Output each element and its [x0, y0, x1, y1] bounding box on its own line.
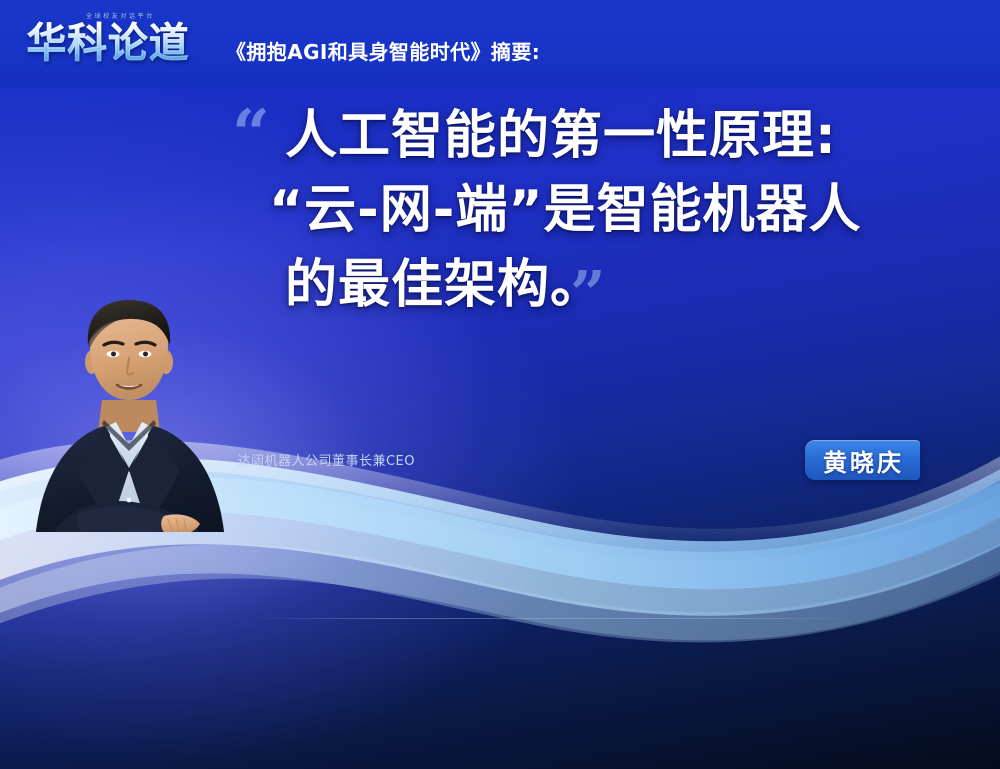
speaker-name: 黄晓庆 — [823, 443, 904, 478]
footer-divider — [252, 618, 856, 619]
footer-section: 入群请咨询工作人员: 微信号 srh15029033920 (苏同学) 微信号 … — [0, 628, 1000, 769]
speaker-name-badge: 黄晓庆 — [805, 440, 920, 480]
page-title: 《拥抱AGI和具身智能时代》摘要: — [226, 36, 540, 65]
logo-wordmark: 华科论道 — [27, 21, 190, 65]
brand-logo: 全球校友对话平台 华科论道 — [24, 10, 214, 76]
quote-line-1: 人工智能的第一性原理: — [285, 102, 837, 170]
speaker-portrait — [14, 300, 244, 565]
close-quote-mark: ” — [570, 264, 606, 324]
open-quote-mark: “ — [232, 104, 270, 164]
quote-line-3: 的最佳架构。 — [285, 251, 603, 319]
speaker-title: 达闼机器人公司董事长兼CEO — [237, 450, 415, 469]
poster-canvas: 全球校友对话平台 华科论道 《拥抱AGI和具身智能时代》摘要: “ 人工智能的第… — [0, 0, 1000, 769]
quote-line-2: “云-网-端”是智能机器人 — [269, 176, 862, 244]
